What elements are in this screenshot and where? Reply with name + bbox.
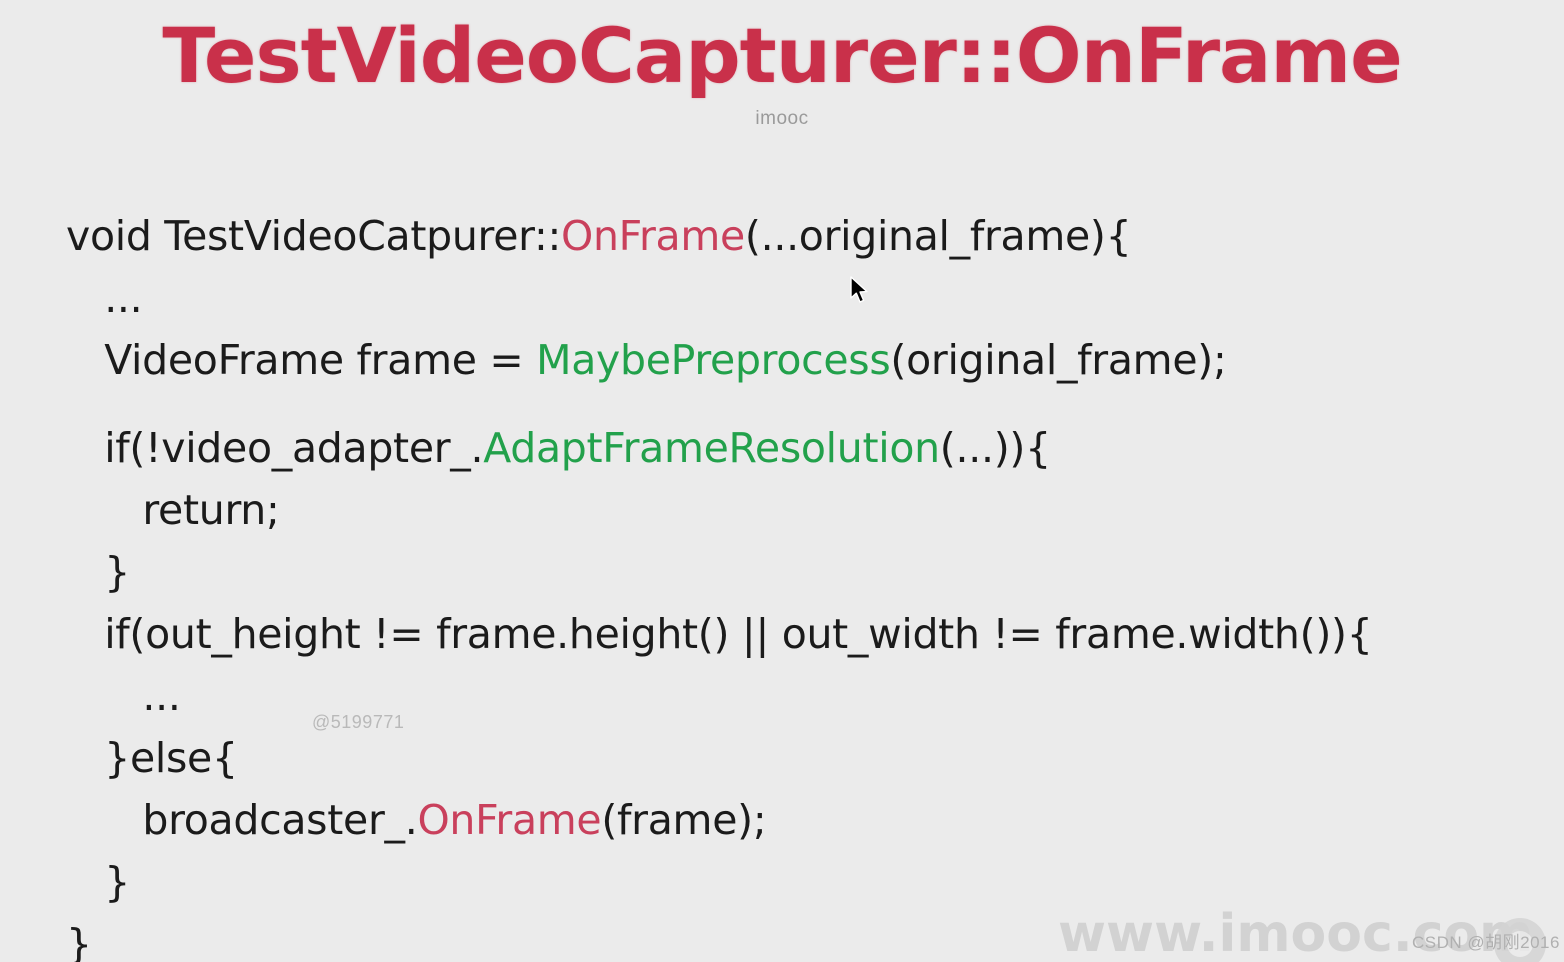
code-token-plain: (original_frame); — [890, 336, 1226, 384]
page-title: TestVideoCapturer::OnFrame — [0, 18, 1564, 94]
code-token-plain: if(!video_adapter_. — [66, 424, 483, 472]
watermark-csdn-author: CSDN @胡刚2016 — [1412, 928, 1560, 953]
code-line: return; — [66, 479, 1556, 541]
code-token-plain: ... — [66, 274, 142, 322]
code-line: ... — [66, 267, 1556, 329]
code-line: }else{ — [66, 727, 1556, 789]
code-token-plain: } — [66, 920, 92, 962]
title-subtitle: imooc — [0, 108, 1564, 130]
code-token-pink: OnFrame — [417, 796, 601, 844]
code-line: VideoFrame frame = MaybePreprocess(origi… — [66, 329, 1556, 391]
code-token-plain: }else{ — [66, 734, 238, 782]
code-token-green: AdaptFrameResolution — [483, 424, 940, 472]
code-token-plain: broadcaster_. — [66, 796, 417, 844]
code-token-pink: OnFrame — [561, 212, 745, 260]
code-token-green: MaybePreprocess — [536, 336, 890, 384]
code-line: if(out_height != frame.height() || out_w… — [66, 603, 1556, 665]
code-token-plain: ... — [66, 672, 181, 720]
code-token-plain: } — [66, 858, 130, 906]
title-block: TestVideoCapturer::OnFrame imooc — [0, 18, 1564, 130]
code-token-plain: return; — [66, 486, 279, 534]
code-line: ... — [66, 665, 1556, 727]
code-token-plain: (frame); — [601, 796, 766, 844]
code-token-plain: VideoFrame frame = — [66, 336, 536, 384]
code-token-plain: (...)){ — [940, 424, 1051, 472]
code-line — [66, 391, 1556, 417]
watermark-user-id: @5199771 — [312, 712, 404, 733]
code-token-plain: void TestVideoCatpurer:: — [66, 212, 561, 260]
code-line: if(!video_adapter_.AdaptFrameResolution(… — [66, 417, 1556, 479]
code-token-plain: if(out_height != frame.height() || out_w… — [66, 610, 1373, 658]
code-line: void TestVideoCatpurer::OnFrame(...origi… — [66, 205, 1556, 267]
code-token-plain: } — [66, 548, 130, 596]
code-block: void TestVideoCatpurer::OnFrame(...origi… — [66, 205, 1556, 962]
code-line: } — [66, 541, 1556, 603]
code-token-plain: (...original_frame){ — [745, 212, 1132, 260]
code-line: broadcaster_.OnFrame(frame); — [66, 789, 1556, 851]
slide-canvas: TestVideoCapturer::OnFrame imooc void Te… — [0, 0, 1564, 962]
